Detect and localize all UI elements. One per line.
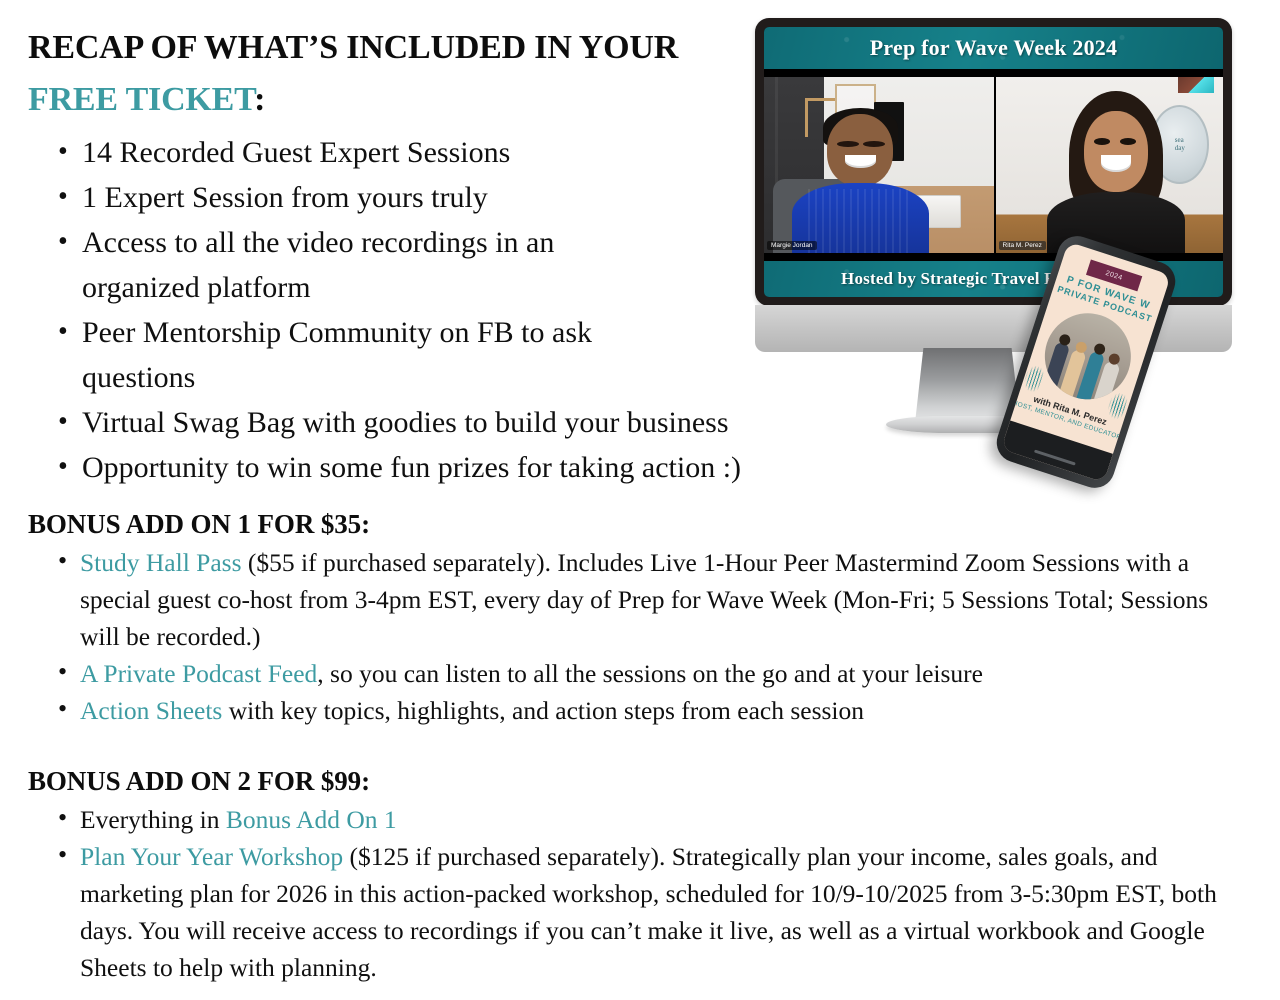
list-item: Access to all the video recordings in an… <box>28 220 658 310</box>
bonus-item-text: ($55 if purchased separately). Includes … <box>80 548 1208 651</box>
private-podcast-feed-link[interactable]: A Private Podcast Feed <box>80 659 317 688</box>
bullet-text: 14 Recorded Guest Expert Sessions <box>82 136 510 169</box>
list-item: 1 Expert Session from yours truly <box>28 175 1250 220</box>
study-hall-pass-link[interactable]: Study Hall Pass <box>80 548 242 577</box>
bullet-text: Virtual Swag Bag with goodies to build y… <box>82 406 729 439</box>
free-ticket-bullet-list: 14 Recorded Guest Expert Sessions 1 Expe… <box>28 130 1250 490</box>
list-item: Virtual Swag Bag with goodies to build y… <box>28 400 1250 445</box>
bullet-text: 1 Expert Session from yours truly <box>82 181 488 214</box>
list-item: Opportunity to win some fun prizes for t… <box>28 445 1250 490</box>
free-ticket-accent: FREE TICKET <box>28 81 254 118</box>
list-item: 14 Recorded Guest Expert Sessions <box>28 130 1250 175</box>
bullet-text: Access to all the video recordings in an… <box>82 226 554 304</box>
bonus-item-prefix: Everything in <box>80 805 226 834</box>
bullet-text: Opportunity to win some fun prizes for t… <box>82 451 741 484</box>
bonus-1-title: BONUS ADD ON 1 FOR $35: <box>28 506 1250 542</box>
heading-block: RECAP OF WHAT’S INCLUDED IN YOUR FREE TI… <box>28 22 748 126</box>
free-ticket-colon: : <box>254 81 265 118</box>
bonus-1-list: Study Hall Pass ($55 if purchased separa… <box>28 544 1250 729</box>
list-item: A Private Podcast Feed, so you can liste… <box>28 655 1250 692</box>
list-item: Everything in Bonus Add On 1 <box>28 801 1250 838</box>
list-item: Peer Mentorship Community on FB to ask q… <box>28 310 708 400</box>
page-title-line-1: RECAP OF WHAT’S INCLUDED IN YOUR <box>28 22 748 74</box>
list-item: Plan Your Year Workshop ($125 if purchas… <box>28 838 1250 986</box>
action-sheets-link[interactable]: Action Sheets <box>80 696 222 725</box>
plan-your-year-workshop-link[interactable]: Plan Your Year Workshop <box>80 842 343 871</box>
page-title-line-2: FREE TICKET: <box>28 74 748 126</box>
content-column: RECAP OF WHAT’S INCLUDED IN YOUR FREE TI… <box>0 0 1280 986</box>
bonus-2-list: Everything in Bonus Add On 1 Plan Your Y… <box>28 801 1250 986</box>
bonus-item-text: , so you can listen to all the sessions … <box>317 659 983 688</box>
bonus-2-title: BONUS ADD ON 2 FOR $99: <box>28 763 1250 799</box>
list-item: Action Sheets with key topics, highlight… <box>28 692 1250 729</box>
bonus-add-on-1-link[interactable]: Bonus Add On 1 <box>226 805 397 834</box>
page-title-text: RECAP OF WHAT’S INCLUDED IN YOUR <box>28 29 678 66</box>
poster-page: RECAP OF WHAT’S INCLUDED IN YOUR FREE TI… <box>0 0 1280 1000</box>
bullet-text: Peer Mentorship Community on FB to ask q… <box>82 316 592 394</box>
bonus-item-text: with key topics, highlights, and action … <box>222 696 864 725</box>
list-item: Study Hall Pass ($55 if purchased separa… <box>28 544 1250 655</box>
